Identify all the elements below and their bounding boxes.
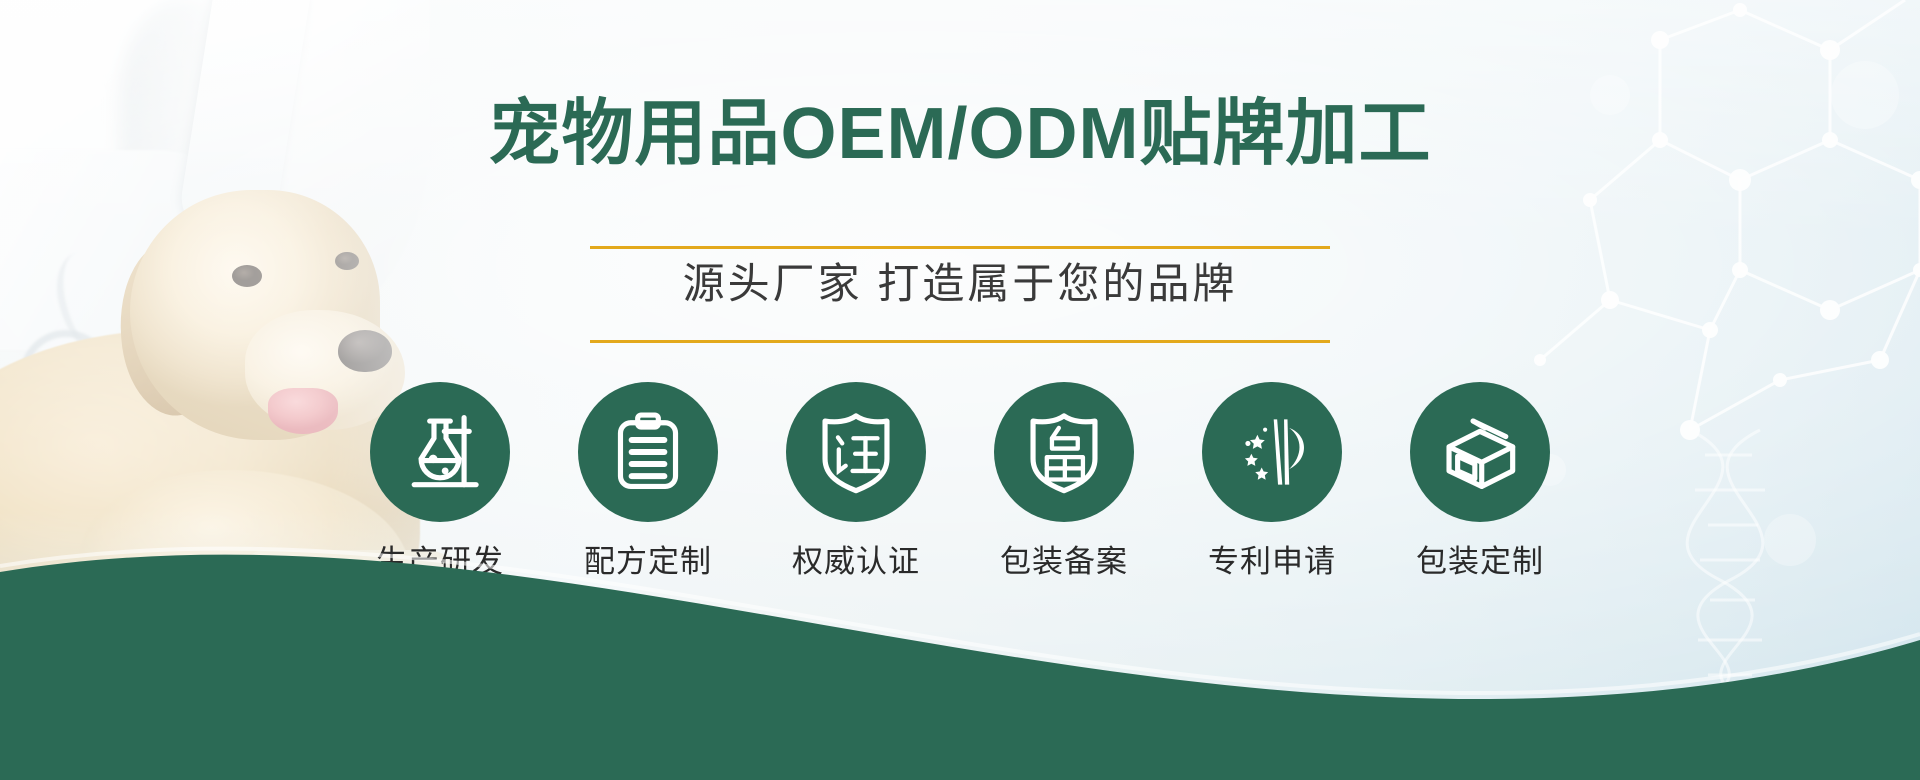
gold-divider-bottom bbox=[590, 340, 1330, 343]
divider-top-wrap bbox=[0, 236, 1920, 254]
wave-shape bbox=[0, 555, 1920, 780]
gold-divider-top bbox=[590, 246, 1330, 249]
page-subtitle: 源头厂家 打造属于您的品牌 bbox=[0, 258, 1920, 310]
promo-banner: 宠物用品OEM/ODM贴牌加工 源头厂家 打造属于您的品牌 bbox=[0, 0, 1920, 780]
page-title: 宠物用品OEM/ODM贴牌加工 bbox=[0, 96, 1920, 172]
bottom-wave-decoration bbox=[0, 480, 1920, 780]
divider-bottom-wrap bbox=[0, 330, 1920, 348]
